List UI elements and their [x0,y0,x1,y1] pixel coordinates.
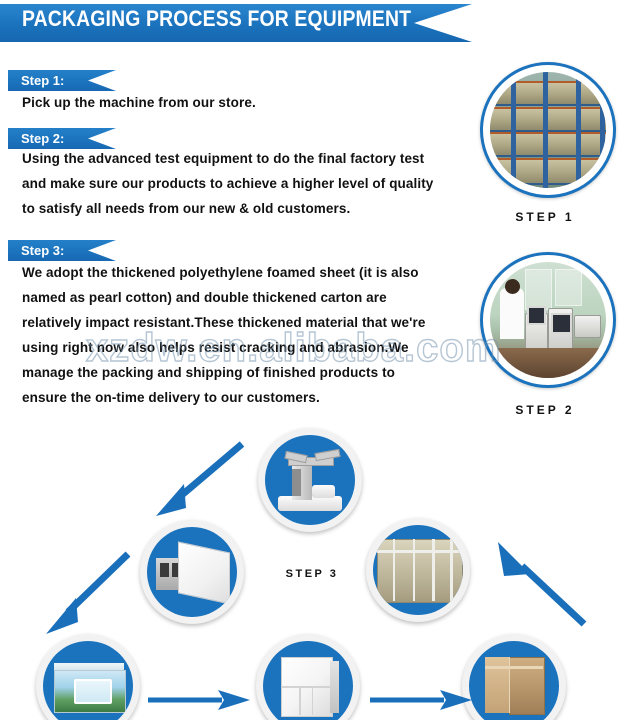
wrapped-unit-icon [263,641,353,720]
arrow-foamsheet-to-box-icon [38,548,138,638]
step-3-body: We adopt the thickened polyethylene foam… [22,260,437,410]
step-2-photo-image [490,262,606,378]
step-label-ribbon-1: Step 1: [8,70,116,91]
step-3-label: Step 3: [21,243,64,258]
foam-sheet-icon [147,527,237,617]
step-1-photo-image [490,72,606,188]
step-2-body: Using the advanced test equipment to do … [22,146,437,221]
flow-node-double-carton [462,634,566,720]
step-label-ribbon-3: Step 3: [8,240,116,261]
printed-box-icon [43,641,133,720]
flow-node-foam-stack [366,518,470,622]
step-2-photo [480,252,616,388]
testing-lab-icon [490,262,606,378]
machine-unit-icon [265,435,355,525]
arrow-wrapped-to-carton-icon [368,688,474,712]
step-2-label: Step 2: [21,131,64,146]
flow-node-foam-sheet [140,520,244,624]
double-carton-icon [469,641,559,720]
ribbon-notch-icon [88,240,116,261]
step-1-photo [480,62,616,198]
packaging-process-infographic: PACKAGING PROCESS FOR EQUIPMENT Step 1: … [0,0,640,720]
arrow-carton-to-foamstack-icon [488,540,588,630]
step-1-body: Pick up the machine from our store. [22,90,452,115]
flow-node-printed-box [36,634,140,720]
flow-caption-step-3: STEP 3 [262,568,362,580]
flow-node-wrapped-unit [256,634,360,720]
arrow-machine-to-foamsheet-icon [150,438,250,518]
page-title: PACKAGING PROCESS FOR EQUIPMENT [22,6,411,32]
foam-stack-icon [373,525,463,615]
warehouse-racking-icon [490,72,606,188]
step-2-photo-caption: STEP 2 [480,403,610,417]
ribbon-notch-icon [88,70,116,91]
arrow-box-to-wrapped-icon [146,688,252,712]
step-1-photo-caption: STEP 1 [480,210,610,224]
step-1-label: Step 1: [21,73,64,88]
flow-node-machine-unit [258,428,362,532]
banner-notch-icon [414,4,472,42]
